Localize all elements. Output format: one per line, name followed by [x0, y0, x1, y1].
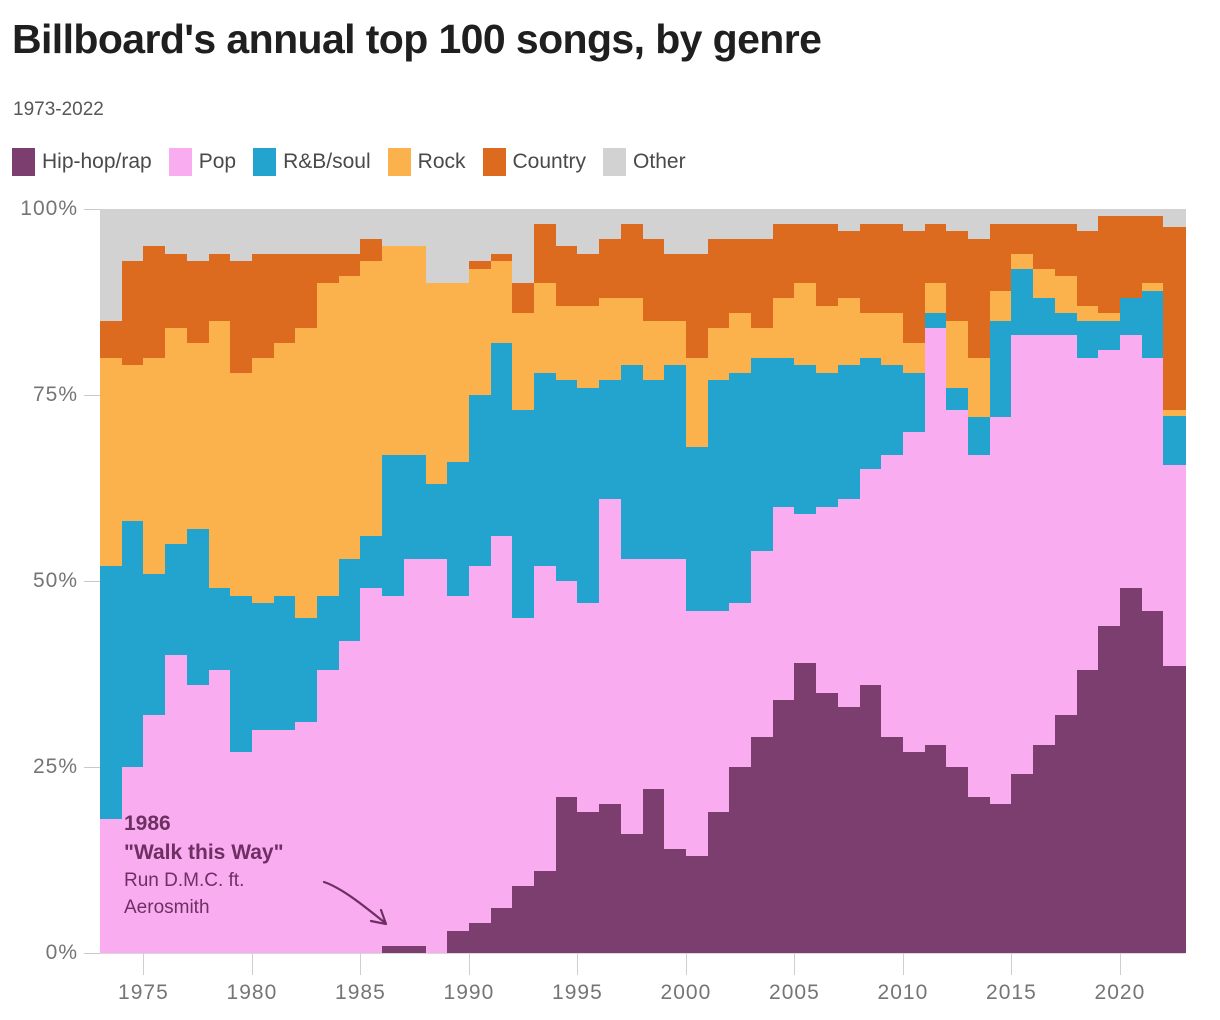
bar-segment	[1120, 298, 1142, 336]
bar-segment	[252, 603, 274, 730]
bar-segment	[447, 930, 469, 953]
bar-segment	[946, 767, 968, 954]
bar-segment	[382, 246, 404, 455]
bar-segment	[838, 707, 860, 953]
legend-label: Rock	[418, 150, 466, 174]
bar-segment	[599, 209, 621, 239]
bar-segment	[122, 365, 144, 522]
annotation-artist-line2: Aerosmith	[124, 895, 354, 922]
bar-segment	[1055, 209, 1077, 224]
bar-2021[interactable]	[1142, 209, 1164, 953]
legend-item-country[interactable]: Country	[483, 148, 587, 176]
x-axis-tick-mark	[577, 953, 578, 975]
x-axis-tick-label: 1980	[227, 981, 278, 1005]
bar-segment	[1120, 588, 1142, 953]
bar-1973[interactable]	[100, 209, 122, 953]
bar-1985[interactable]	[360, 209, 382, 953]
bar-segment	[187, 261, 209, 343]
bar-segment	[209, 209, 231, 254]
x-axis-tick-label: 1990	[444, 981, 495, 1005]
bar-segment	[1055, 223, 1077, 276]
bar-segment	[794, 283, 816, 365]
bar-segment	[1120, 209, 1142, 217]
bar-segment	[317, 595, 339, 670]
x-axis-tick-mark	[794, 953, 795, 975]
bar-segment	[664, 848, 686, 953]
bar-2011[interactable]	[925, 209, 947, 953]
bar-1996[interactable]	[599, 209, 621, 953]
bar-segment	[838, 365, 860, 499]
bar-segment	[512, 283, 534, 313]
bar-segment	[686, 610, 708, 856]
bar-segment	[1033, 223, 1055, 268]
bar-2012[interactable]	[946, 209, 968, 953]
bar-segment	[708, 238, 730, 328]
bar-2009[interactable]	[881, 209, 903, 953]
bar-segment	[881, 313, 903, 366]
bar-segment	[1011, 774, 1033, 953]
bar-segment	[881, 365, 903, 455]
bar-segment	[469, 395, 491, 567]
bar-segment	[1077, 320, 1099, 358]
bar-segment	[1163, 416, 1185, 465]
bar-segment	[990, 417, 1012, 804]
bar-2000[interactable]	[686, 209, 708, 953]
bar-2003[interactable]	[751, 209, 773, 953]
bar-segment	[621, 209, 643, 224]
bar-segment	[339, 253, 361, 276]
bar-segment	[664, 253, 686, 320]
bar-segment	[686, 447, 708, 611]
bar-segment	[751, 551, 773, 738]
x-axis-tick-label: 2020	[1095, 981, 1146, 1005]
bar-segment	[447, 283, 469, 462]
bar-segment	[686, 253, 708, 358]
bar-2015[interactable]	[1011, 209, 1033, 953]
bar-segment	[1142, 209, 1164, 217]
bar-segment	[1077, 357, 1099, 670]
bar-segment	[1033, 268, 1055, 298]
bar-segment	[903, 432, 925, 752]
bar-segment	[1077, 305, 1099, 320]
bar-segment	[100, 357, 122, 566]
bar-1991[interactable]	[491, 209, 513, 953]
bar-segment	[100, 320, 122, 358]
bar-segment	[534, 283, 556, 373]
legend-swatch-icon	[388, 148, 411, 176]
bar-segment	[230, 261, 252, 373]
bar-segment	[664, 365, 686, 559]
bar-segment	[1077, 231, 1099, 306]
bar-segment	[469, 261, 491, 269]
bar-1994[interactable]	[556, 209, 578, 953]
bar-segment	[143, 246, 165, 358]
bar-segment	[187, 342, 209, 529]
bar-2002[interactable]	[729, 209, 751, 953]
bar-segment	[860, 469, 882, 685]
bar-1988[interactable]	[426, 209, 448, 953]
bar-segment	[686, 856, 708, 953]
bar-segment	[295, 328, 317, 619]
bar-segment	[1033, 298, 1055, 336]
bar-segment	[274, 209, 296, 254]
bar-segment	[860, 357, 882, 469]
x-axis-tick-label: 2005	[769, 981, 820, 1005]
bar-segment	[643, 789, 665, 953]
bar-1990[interactable]	[469, 209, 491, 953]
bar-segment	[1033, 744, 1055, 953]
legend-swatch-icon	[253, 148, 276, 176]
bar-segment	[816, 223, 838, 305]
legend-item-hip-hop-rap[interactable]: Hip-hop/rap	[12, 148, 152, 176]
bar-segment	[1142, 216, 1164, 283]
bar-1999[interactable]	[664, 209, 686, 953]
bar-1989[interactable]	[447, 209, 469, 953]
bar-segment	[360, 261, 382, 537]
bar-segment	[274, 253, 296, 343]
bar-segment	[925, 283, 947, 313]
bar-segment	[317, 283, 339, 596]
bar-segment	[577, 209, 599, 254]
x-axis-tick-label: 2015	[986, 981, 1037, 1005]
bar-segment	[599, 238, 621, 298]
bar-2018[interactable]	[1077, 209, 1099, 953]
bar-1986[interactable]	[382, 209, 404, 953]
bar-segment	[816, 692, 838, 953]
bar-segment	[816, 372, 838, 506]
legend-label: Hip-hop/rap	[42, 150, 152, 174]
bar-segment	[491, 908, 513, 953]
bar-segment	[122, 261, 144, 366]
bar-2013[interactable]	[968, 209, 990, 953]
bar-segment	[664, 209, 686, 254]
legend-swatch-icon	[483, 148, 506, 176]
x-axis-tick-label: 1985	[335, 981, 386, 1005]
bar-segment	[1120, 216, 1142, 298]
bar-segment	[556, 581, 578, 797]
legend-item-pop[interactable]: Pop	[169, 148, 236, 176]
bar-segment	[491, 253, 513, 261]
bar-segment	[143, 573, 165, 715]
bar-segment	[295, 253, 317, 328]
bar-segment	[1142, 283, 1164, 291]
bar-segment	[903, 342, 925, 372]
x-axis-tick-label: 2000	[661, 981, 712, 1005]
page-subtitle: 1973-2022	[13, 99, 104, 121]
bar-segment	[100, 819, 122, 953]
bar-segment	[122, 209, 144, 262]
bar-segment	[1011, 253, 1033, 268]
bar-segment	[187, 209, 209, 262]
annotation-year: 1986	[124, 810, 354, 839]
bar-segment	[426, 283, 448, 484]
bar-segment	[925, 744, 947, 953]
bar-segment	[165, 209, 187, 254]
chart-legend: Hip-hop/rapPopR&B/soulRockCountryOther	[12, 148, 703, 176]
bar-2022[interactable]	[1163, 209, 1185, 953]
bar-segment	[447, 595, 469, 930]
y-axis-tick-mark	[84, 767, 100, 768]
bar-2016[interactable]	[1033, 209, 1055, 953]
bar-segment	[664, 320, 686, 365]
bar-2005[interactable]	[794, 209, 816, 953]
y-axis-tick-mark	[84, 395, 100, 396]
bar-segment	[708, 209, 730, 239]
x-axis-tick-label: 1975	[118, 981, 169, 1005]
bar-segment	[946, 209, 968, 232]
bar-segment	[491, 342, 513, 536]
bar-segment	[816, 305, 838, 372]
y-axis-tick-label: 100%	[20, 197, 78, 221]
bar-segment	[360, 238, 382, 261]
page-title: Billboard's annual top 100 songs, by gen…	[12, 16, 821, 63]
bar-segment	[990, 223, 1012, 290]
bar-segment	[860, 209, 882, 224]
bar-segment	[1098, 209, 1120, 217]
bar-segment	[794, 365, 816, 514]
bar-segment	[577, 387, 599, 603]
bar-1995[interactable]	[577, 209, 599, 953]
bar-segment	[838, 209, 860, 232]
bar-segment	[773, 506, 795, 700]
bar-segment	[946, 231, 968, 321]
bar-segment	[143, 357, 165, 573]
bar-segment	[512, 409, 534, 618]
bar-segment	[1033, 335, 1055, 745]
annotation-1986: 1986 "Walk this Way" Run D.M.C. ft. Aero…	[124, 810, 354, 922]
bar-segment	[773, 223, 795, 298]
bar-segment	[339, 275, 361, 558]
bar-segment	[165, 253, 187, 328]
bar-segment	[1055, 714, 1077, 953]
bar-segment	[968, 209, 990, 239]
bar-segment	[643, 209, 665, 239]
bar-segment	[382, 209, 404, 247]
bar-segment	[773, 209, 795, 224]
bar-2017[interactable]	[1055, 209, 1077, 953]
legend-item-rock[interactable]: Rock	[388, 148, 466, 176]
bar-segment	[643, 238, 665, 320]
bar-segment	[903, 209, 925, 232]
bar-segment	[838, 231, 860, 298]
bar-segment	[881, 209, 903, 224]
bar-segment	[729, 603, 751, 767]
annotation-artist-line1: Run D.M.C. ft.	[124, 868, 354, 895]
bar-segment	[751, 328, 773, 358]
bar-segment	[1011, 335, 1033, 774]
bar-segment	[1098, 625, 1120, 953]
bar-segment	[382, 454, 404, 596]
legend-item-other[interactable]: Other	[603, 148, 686, 176]
bar-segment	[925, 313, 947, 328]
bar-2007[interactable]	[838, 209, 860, 953]
bar-segment	[708, 328, 730, 381]
bar-segment	[122, 521, 144, 767]
bar-segment	[968, 417, 990, 455]
bar-2010[interactable]	[903, 209, 925, 953]
bar-segment	[404, 209, 426, 247]
bar-segment	[708, 610, 730, 811]
bar-segment	[512, 618, 534, 886]
bar-segment	[447, 461, 469, 595]
legend-label: Pop	[199, 150, 236, 174]
bar-1998[interactable]	[643, 209, 665, 953]
bar-segment	[274, 595, 296, 729]
bar-segment	[404, 558, 426, 945]
bar-segment	[621, 223, 643, 298]
bar-segment	[252, 209, 274, 254]
bar-segment	[621, 558, 643, 834]
bar-segment	[274, 342, 296, 595]
bar-segment	[469, 268, 491, 395]
bar-segment	[382, 595, 404, 945]
bar-segment	[1098, 320, 1120, 350]
bar-segment	[556, 246, 578, 306]
bar-2019[interactable]	[1098, 209, 1120, 953]
bar-2001[interactable]	[708, 209, 730, 953]
legend-item-r-b-soul[interactable]: R&B/soul	[253, 148, 371, 176]
y-axis-tick-mark	[84, 581, 100, 582]
bar-segment	[187, 528, 209, 685]
bar-segment	[708, 380, 730, 611]
bar-segment	[556, 209, 578, 247]
x-axis-tick-mark	[469, 953, 470, 975]
legend-swatch-icon	[169, 148, 192, 176]
bar-segment	[1142, 357, 1164, 610]
bar-segment	[1098, 216, 1120, 313]
bar-segment	[491, 261, 513, 343]
bar-segment	[100, 209, 122, 321]
legend-label: Other	[633, 150, 686, 174]
bar-segment	[577, 811, 599, 953]
bar-2020[interactable]	[1120, 209, 1142, 953]
bar-segment	[209, 588, 231, 670]
bar-segment	[1033, 209, 1055, 224]
bar-segment	[990, 320, 1012, 417]
bar-segment	[860, 223, 882, 313]
bar-segment	[1055, 275, 1077, 313]
bar-segment	[556, 380, 578, 581]
bar-segment	[946, 320, 968, 387]
bar-1992[interactable]	[512, 209, 534, 953]
bar-segment	[577, 305, 599, 387]
bar-segment	[794, 223, 816, 283]
y-axis-tick-label: 75%	[33, 383, 78, 407]
bar-segment	[860, 685, 882, 953]
bar-segment	[1011, 223, 1033, 253]
bar-segment	[946, 387, 968, 410]
bar-segment	[165, 328, 187, 544]
bar-segment	[751, 209, 773, 239]
bar-segment	[534, 209, 556, 224]
bar-segment	[426, 558, 448, 953]
bar-segment	[426, 484, 448, 559]
bar-segment	[469, 209, 491, 262]
bar-segment	[903, 372, 925, 432]
bar-segment	[968, 796, 990, 953]
bar-segment	[1055, 335, 1077, 715]
bar-segment	[729, 209, 751, 239]
bar-segment	[404, 945, 426, 953]
bar-segment	[621, 365, 643, 559]
bar-segment	[708, 811, 730, 953]
bar-2006[interactable]	[816, 209, 838, 953]
legend-label: Country	[513, 150, 587, 174]
bar-segment	[252, 253, 274, 358]
x-axis-tick-mark	[686, 953, 687, 975]
bar-segment	[1055, 313, 1077, 336]
bar-segment	[643, 380, 665, 559]
bar-segment	[686, 357, 708, 447]
bar-segment	[512, 313, 534, 410]
bar-segment	[143, 209, 165, 247]
bar-segment	[1098, 313, 1120, 321]
bar-segment	[773, 700, 795, 953]
bar-segment	[621, 833, 643, 953]
bar-segment	[577, 603, 599, 812]
bar-segment	[339, 209, 361, 254]
bar-segment	[230, 372, 252, 596]
bar-segment	[404, 454, 426, 559]
bar-segment	[990, 209, 1012, 224]
bar-segment	[295, 209, 317, 254]
bar-segment	[230, 209, 252, 262]
x-axis-tick-mark	[1011, 953, 1012, 975]
bar-1993[interactable]	[534, 209, 556, 953]
bar-segment	[816, 506, 838, 693]
bar-2004[interactable]	[773, 209, 795, 953]
bar-segment	[946, 409, 968, 767]
y-axis-tick-label: 25%	[33, 755, 78, 779]
x-axis-tick-mark	[360, 953, 361, 975]
bar-segment	[990, 804, 1012, 953]
bar-segment	[295, 618, 317, 723]
bar-segment	[447, 209, 469, 284]
bar-segment	[1011, 209, 1033, 224]
y-axis-tick-label: 50%	[33, 569, 78, 593]
bar-segment	[599, 804, 621, 953]
bar-2008[interactable]	[860, 209, 882, 953]
bar-1987[interactable]	[404, 209, 426, 953]
bar-segment	[925, 223, 947, 283]
bar-segment	[729, 372, 751, 603]
bar-segment	[534, 566, 556, 872]
bar-segment	[925, 328, 947, 745]
bar-segment	[729, 767, 751, 954]
bar-segment	[165, 543, 187, 655]
bar-segment	[360, 209, 382, 239]
bar-segment	[751, 737, 773, 953]
bar-segment	[773, 298, 795, 358]
bar-segment	[621, 298, 643, 365]
chart-page: Billboard's annual top 100 songs, by gen…	[0, 0, 1220, 1020]
bar-1997[interactable]	[621, 209, 643, 953]
bar-segment	[209, 320, 231, 588]
bar-segment	[968, 238, 990, 358]
bar-segment	[577, 253, 599, 306]
bar-segment	[686, 209, 708, 254]
bar-segment	[209, 253, 231, 320]
bar-segment	[838, 298, 860, 365]
bar-segment	[556, 305, 578, 380]
bar-segment	[1011, 268, 1033, 335]
x-axis-tick-mark	[1120, 953, 1121, 975]
bar-segment	[230, 595, 252, 752]
bar-2014[interactable]	[990, 209, 1012, 953]
annotation-song: "Walk this Way"	[124, 839, 354, 868]
bar-segment	[1163, 227, 1185, 410]
bar-segment	[1098, 350, 1120, 626]
